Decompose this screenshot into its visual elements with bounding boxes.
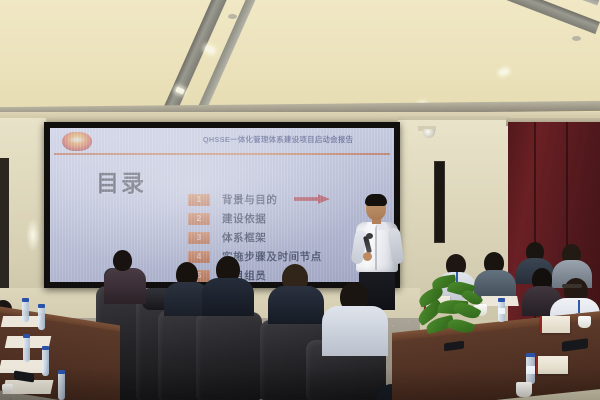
left-wall-panel	[0, 158, 9, 306]
lanyard	[578, 300, 580, 314]
microphone-head-icon	[366, 233, 373, 239]
ceiling-beam-right	[455, 0, 600, 34]
ceiling-vent-icon	[228, 14, 237, 19]
agenda-item-1: 1 背景与目的	[188, 190, 388, 209]
recessed-light-icon	[500, 69, 509, 76]
attendee-shoulders	[104, 268, 146, 304]
office-chair	[196, 312, 262, 400]
attendee-shoulders	[202, 278, 254, 316]
water-bottle	[38, 306, 45, 330]
water-bottle	[42, 348, 49, 376]
ceiling-vent-icon	[572, 36, 581, 41]
agenda-number-badge: 3	[188, 232, 210, 244]
conference-room-photo: QHSSE一体化管理体系建设项目启动会报告 目录 1 背景与目的 2 建设依据	[0, 0, 600, 400]
agenda-item-label: 建设依据	[222, 211, 266, 226]
slide-header-divider	[54, 153, 390, 155]
attendee-shoulders	[268, 286, 324, 324]
eyeglasses-icon	[562, 284, 582, 288]
water-bottle	[58, 372, 65, 400]
water-bottle	[22, 300, 29, 322]
agenda-number-badge: 2	[188, 213, 210, 225]
bottle-cap	[498, 298, 505, 302]
attendee-head	[113, 250, 132, 271]
bottle-cap	[42, 346, 49, 350]
slide-header-title: QHSSE一体化管理体系建设项目启动会报告	[168, 134, 388, 145]
agenda-number-badge: 4	[188, 251, 210, 263]
presenter-hand	[363, 252, 372, 261]
wall-light-reflection	[26, 218, 40, 252]
paper-cup	[516, 382, 532, 397]
bottle-cap	[58, 370, 65, 374]
attendee-shoulders	[322, 306, 388, 356]
bottle-cap	[38, 304, 45, 308]
red-pointer-arrow-icon	[294, 194, 330, 204]
presenter-shirt-placket	[375, 224, 377, 270]
agenda-item-label: 体系框架	[222, 230, 266, 245]
potted-plant	[414, 268, 484, 334]
company-logo-icon	[62, 132, 92, 151]
wall-speaker-panel	[434, 161, 445, 243]
paper-cup	[2, 384, 13, 394]
presenter-hair	[365, 194, 387, 206]
agenda-number-badge: 1	[188, 194, 210, 206]
slide-header: QHSSE一体化管理体系建设项目启动会报告	[50, 128, 394, 154]
document-paper	[1, 316, 41, 327]
bottle-cap	[526, 353, 535, 357]
recessed-light-icon	[204, 45, 214, 53]
water-bottle	[23, 336, 30, 362]
bottle-label	[498, 308, 505, 314]
bottle-cap	[23, 334, 30, 338]
name-placard	[536, 356, 568, 374]
bottle-cap	[22, 298, 29, 302]
paper-cup	[578, 316, 591, 328]
agenda-item-label: 背景与目的	[222, 192, 278, 207]
slide-title: 目录	[96, 164, 146, 198]
name-placard	[540, 316, 570, 333]
bottle-label	[526, 366, 535, 374]
